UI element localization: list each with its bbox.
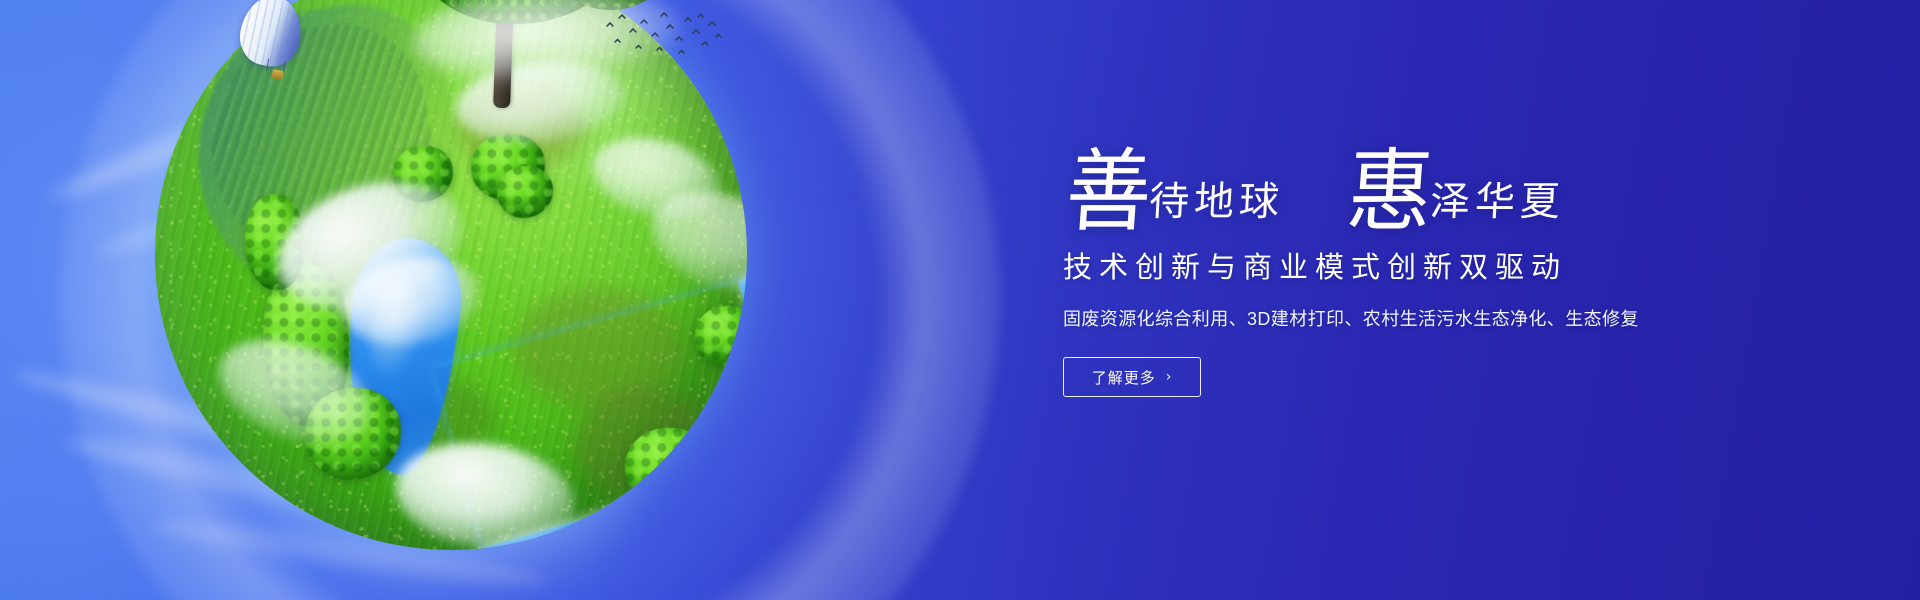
chevron-right-icon: › bbox=[1166, 370, 1173, 384]
headline-rest-two: 泽华夏 bbox=[1429, 182, 1566, 222]
foliage-texture bbox=[695, 306, 747, 366]
subtitle: 技术创新与商业模式创新双驱动 bbox=[1063, 244, 1803, 286]
headline-rest-one: 待地球 bbox=[1148, 182, 1285, 222]
hero-copy-block: 善 待地球 惠 泽华夏 技术创新与商业模式创新双驱动 固废资源化综合利用、3D建… bbox=[1063, 132, 1803, 397]
hero-banner: 善 待地球 惠 泽华夏 技术创新与商业模式创新双驱动 固废资源化综合利用、3D建… bbox=[0, 0, 1920, 600]
earth-globe-illustration bbox=[155, 0, 747, 550]
learn-more-button[interactable]: 了解更多 › bbox=[1063, 357, 1201, 397]
headline: 善 待地球 惠 泽华夏 bbox=[1063, 132, 1803, 228]
hot-air-balloon-icon bbox=[241, 0, 305, 88]
forest-cluster bbox=[695, 306, 747, 366]
balloon-basket bbox=[271, 69, 283, 80]
bird-flock-icon bbox=[603, 12, 723, 58]
headline-char-hui: 惠 bbox=[1344, 148, 1436, 238]
description-line: 固废资源化综合利用、3D建材打印、农村生活污水生态净化、生态修复 bbox=[1063, 305, 1803, 331]
headline-char-shan: 善 bbox=[1063, 148, 1155, 238]
learn-more-label: 了解更多 bbox=[1092, 367, 1156, 388]
